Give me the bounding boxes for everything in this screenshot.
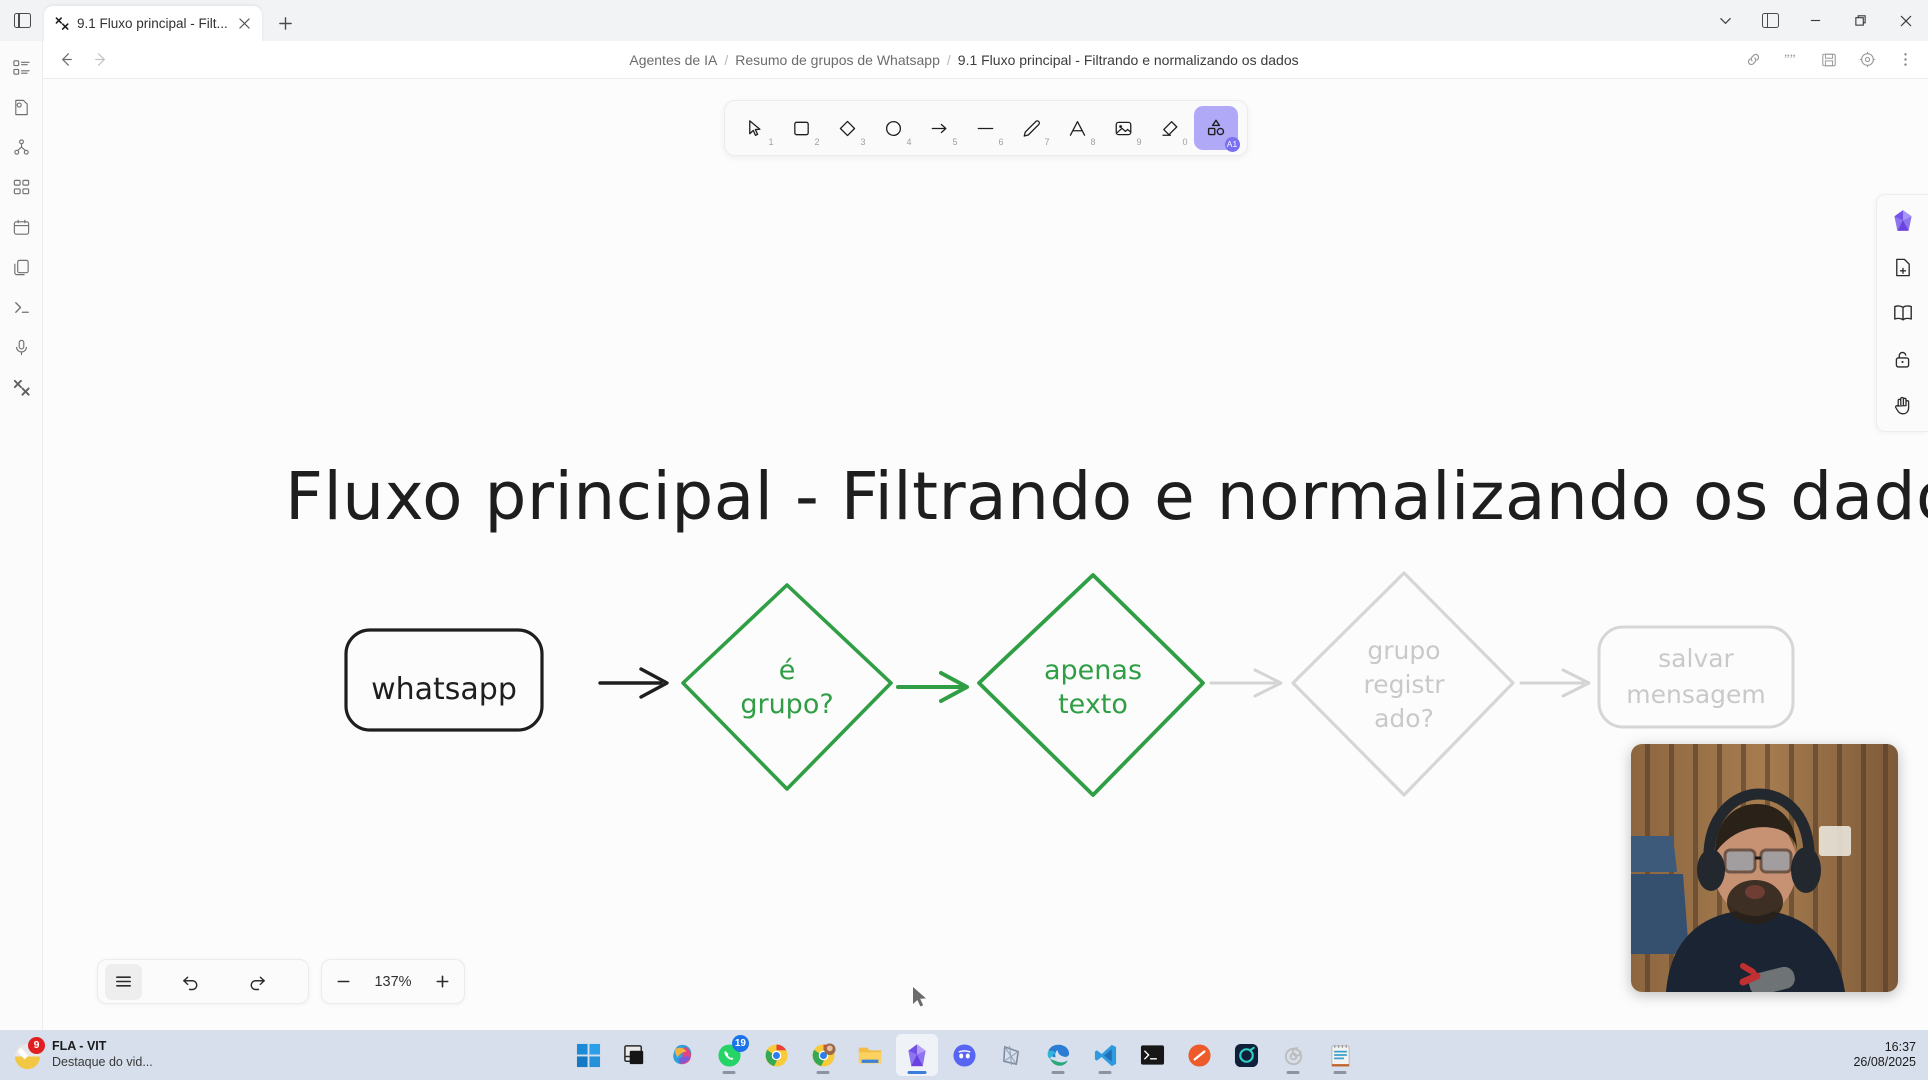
flow-edge-4[interactable] [1521, 670, 1589, 696]
copy-icon [12, 258, 31, 277]
split-panel-button[interactable] [1748, 0, 1793, 41]
edge-running-indicator [1052, 1071, 1065, 1074]
zoom-out-button[interactable] [325, 964, 362, 1000]
taskbar-vscode-icon[interactable] [1084, 1034, 1126, 1076]
flow-node-apenas-texto[interactable]: apenas texto [979, 575, 1203, 795]
settings-gear-icon[interactable] [1856, 49, 1878, 71]
notification-badge: 9 [28, 1037, 45, 1054]
settings-running-indicator [1287, 1071, 1300, 1074]
flow-node-e-grupo[interactable]: é grupo? [683, 585, 891, 789]
link-icon[interactable] [1742, 49, 1764, 71]
taskbar-clock[interactable]: 16:37 26/08/2025 [1853, 1040, 1916, 1071]
flow-node-grupo-registrado-label-1: registr [1363, 670, 1445, 699]
flow-node-e-grupo-label-1: grupo? [740, 689, 833, 720]
svg-text:””: ”” [1783, 51, 1795, 66]
breadcrumb-item-2[interactable]: 9.1 Fluxo principal - Filtrando e normal… [958, 52, 1299, 68]
sidebar-item-scissors[interactable] [6, 372, 37, 403]
excalidraw-tab-icon [55, 16, 70, 31]
flow-edge-3[interactable] [1211, 670, 1281, 696]
taskbar-orange-app-icon[interactable] [1178, 1034, 1220, 1076]
taskbar-notification-text: FLA - VIT Destaque do vid... [52, 1039, 153, 1070]
window-maximize-button[interactable] [1838, 0, 1883, 41]
taskbar-apps: 19 [567, 1034, 1361, 1076]
taskbar-dark-circle-app-icon[interactable] [1225, 1034, 1267, 1076]
calendar-icon [12, 218, 31, 237]
window-close-button[interactable] [1883, 0, 1928, 41]
topbar-actions: ”” [1742, 49, 1916, 71]
webcam-overlay[interactable] [1631, 744, 1898, 992]
left-rail [0, 41, 43, 1030]
redo-button[interactable] [239, 964, 276, 1000]
flow-node-apenas-texto-label-1: texto [1058, 689, 1128, 720]
taskbar-terminal-icon[interactable] [1131, 1034, 1173, 1076]
split-panel-icon [1762, 13, 1779, 28]
flow-node-whatsapp[interactable]: whatsapp [346, 630, 542, 730]
whatsapp-badge: 19 [732, 1035, 749, 1052]
zoom-island: 137% [321, 959, 465, 1004]
panel-icon [14, 13, 31, 28]
board-title[interactable]: Fluxo principal - Filtrando e normalizan… [285, 458, 1928, 535]
share-node-icon [12, 138, 31, 157]
notification-title: FLA - VIT [52, 1039, 153, 1055]
browser-tabstrip: 9.1 Fluxo principal - Filt... [0, 0, 1928, 41]
scissors-icon [12, 378, 31, 397]
breadcrumb-item-0[interactable]: Agentes de IA [629, 52, 717, 68]
taskbar-file-explorer-icon[interactable] [849, 1034, 891, 1076]
zoom-in-button[interactable] [424, 964, 461, 1000]
video-thumb-icon: 9 [12, 1040, 43, 1071]
excalidraw-running-indicator [908, 1071, 927, 1074]
document-search-icon [12, 98, 31, 117]
sidebar-item-calendar[interactable] [6, 212, 37, 243]
taskbar-task-view-icon[interactable] [614, 1034, 656, 1076]
notification-subtitle: Destaque do vid... [52, 1055, 153, 1071]
notes-running-indicator [1334, 1071, 1347, 1074]
chrome-profile-running-indicator [817, 1071, 830, 1074]
screen: 9.1 Fluxo principal - Filt... [0, 0, 1928, 1080]
taskbar-chrome-icon[interactable] [755, 1034, 797, 1076]
sidebar-item-copy[interactable] [6, 252, 37, 283]
grid-apps-icon [12, 178, 31, 197]
vscode-running-indicator [1099, 1071, 1112, 1074]
taskbar-discord-icon[interactable] [943, 1034, 985, 1076]
taskbar-excalidraw-icon[interactable] [896, 1034, 938, 1076]
browser-tab[interactable]: 9.1 Fluxo principal - Filt... [44, 6, 262, 41]
flow-node-apenas-texto-label-0: apenas [1044, 655, 1142, 686]
taskbar-notification[interactable]: 9 FLA - VIT Destaque do vid... [0, 1039, 300, 1070]
browser-tab-title: 9.1 Fluxo principal - Filt... [77, 16, 228, 31]
new-tab-button[interactable] [270, 7, 302, 39]
sidebar-item-document[interactable] [6, 92, 37, 123]
kebab-menu-icon[interactable] [1894, 49, 1916, 71]
sidebar-item-terminal[interactable] [6, 292, 37, 323]
flow-node-grupo-registrado[interactable]: grupo registr ado? [1293, 573, 1513, 795]
sidebar-item-share[interactable] [6, 132, 37, 163]
terminal-icon [12, 298, 31, 317]
windows-taskbar: 9 FLA - VIT Destaque do vid... [0, 1030, 1928, 1080]
taskbar-obsidian-icon[interactable] [990, 1034, 1032, 1076]
sidebar-item-microphone[interactable] [6, 332, 37, 363]
mouse-cursor [913, 987, 926, 1007]
taskbar-whatsapp-icon[interactable]: 19 [708, 1034, 750, 1076]
sidebar-item-apps[interactable] [6, 172, 37, 203]
taskbar-edge-icon[interactable] [1037, 1034, 1079, 1076]
tab-close-icon[interactable] [235, 14, 254, 33]
navigation-arrows [52, 46, 114, 74]
taskbar-date: 26/08/2025 [1853, 1055, 1916, 1070]
taskbar-time: 16:37 [1853, 1040, 1916, 1055]
quote-icon[interactable]: ”” [1780, 49, 1802, 71]
breadcrumb: Agentes de IA / Resumo de grupos de What… [629, 52, 1298, 68]
excalidraw-canvas[interactable]: 1 2 3 4 5 6 7 [43, 79, 1928, 1030]
flow-node-grupo-registrado-label-0: grupo [1367, 636, 1440, 665]
breadcrumb-separator-0: / [724, 52, 728, 68]
menu-undo-island [97, 959, 309, 1004]
whatsapp-running-indicator [723, 1071, 736, 1074]
flow-node-salvar-mensagem[interactable]: salvar mensagem [1599, 627, 1793, 727]
flow-node-salvar-mensagem-label-1: mensagem [1626, 680, 1766, 709]
undo-button[interactable] [172, 964, 209, 1000]
main-menu-button[interactable] [105, 964, 142, 1000]
sidebar-item-list-view[interactable] [6, 52, 37, 83]
flow-edge-1[interactable] [600, 669, 667, 697]
app-topbar: Agentes de IA / Resumo de grupos de What… [0, 41, 1928, 79]
breadcrumb-separator-1: / [947, 52, 951, 68]
canvas-bottom-controls: 137% [97, 959, 465, 1004]
flow-edge-2[interactable] [898, 673, 967, 701]
save-icon[interactable] [1818, 49, 1840, 71]
list-view-icon [12, 58, 31, 77]
microphone-icon [12, 338, 31, 357]
tab-list-chevron-button[interactable] [1703, 0, 1748, 41]
nav-forward-button[interactable] [86, 46, 114, 74]
nav-back-button[interactable] [52, 46, 80, 74]
taskbar-settings-app-icon[interactable] [1272, 1034, 1314, 1076]
taskbar-copilot-icon[interactable] [661, 1034, 703, 1076]
zoom-level-value[interactable]: 137% [362, 974, 424, 990]
window-minimize-button[interactable] [1793, 0, 1838, 41]
flow-node-whatsapp-label: whatsapp [371, 672, 517, 707]
taskbar-notes-app-icon[interactable] [1319, 1034, 1361, 1076]
window-controls [1703, 0, 1928, 41]
flow-node-e-grupo-label-0: é [779, 655, 796, 686]
taskbar-windows-start-icon[interactable] [567, 1034, 609, 1076]
flow-node-grupo-registrado-label-2: ado? [1374, 704, 1434, 733]
flow-node-salvar-mensagem-label-0: salvar [1658, 644, 1734, 673]
sidebar-toggle-button[interactable] [0, 0, 44, 41]
breadcrumb-item-1[interactable]: Resumo de grupos de Whatsapp [735, 52, 940, 68]
taskbar-chrome-profile-icon[interactable] [802, 1034, 844, 1076]
